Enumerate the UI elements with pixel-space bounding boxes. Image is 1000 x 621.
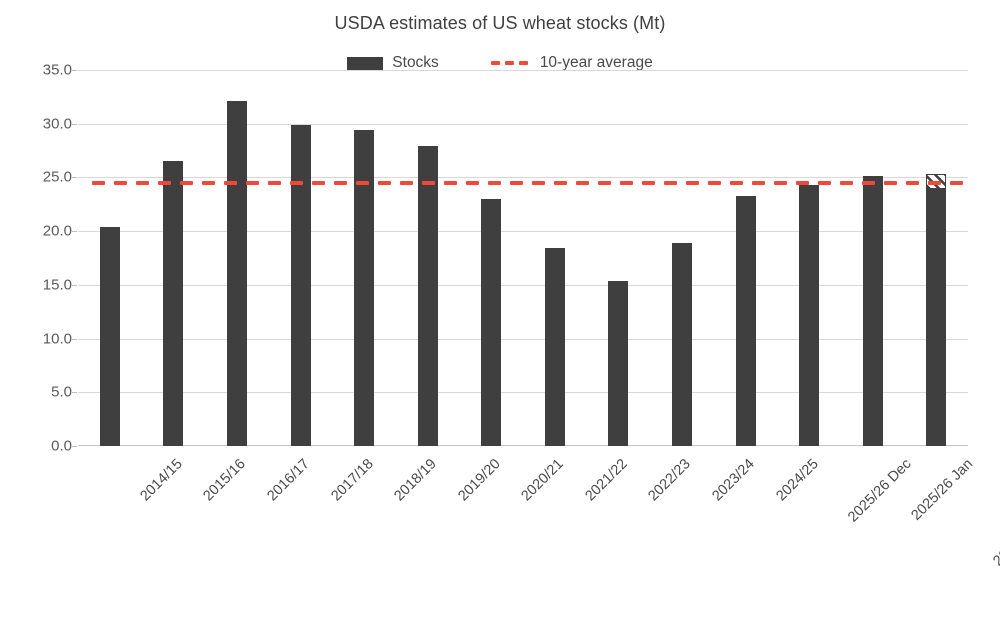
bar[interactable] <box>799 185 819 446</box>
y-axis-tick-label: 20.0 <box>18 223 72 240</box>
average-line-dash <box>532 181 545 185</box>
average-line-dash <box>598 181 611 185</box>
average-line-dash <box>466 181 479 185</box>
average-line-dash <box>664 181 677 185</box>
bar[interactable] <box>608 281 628 446</box>
y-axis-tick <box>72 285 77 286</box>
bar[interactable] <box>163 161 183 446</box>
bar[interactable] <box>354 130 374 446</box>
average-line-dash <box>730 181 743 185</box>
average-line-dash <box>334 181 347 185</box>
average-line-dash <box>774 181 787 185</box>
y-axis-tick <box>72 446 77 447</box>
x-axis-tick-label: 2017/18 <box>328 456 376 504</box>
bar[interactable] <box>736 196 756 446</box>
average-line-dash <box>642 181 655 185</box>
average-line-dash <box>708 181 721 185</box>
y-axis-tick-label: 5.0 <box>18 384 72 401</box>
bar[interactable] <box>863 176 883 446</box>
legend-bar-swatch-icon <box>347 57 383 70</box>
gridline <box>78 392 968 393</box>
average-line-dash <box>510 181 523 185</box>
average-line <box>78 181 968 185</box>
gridline <box>78 70 968 71</box>
y-axis-tick <box>72 177 77 178</box>
average-line-dash <box>400 181 413 185</box>
average-line-dash <box>884 181 897 185</box>
gridline <box>78 285 968 286</box>
x-axis-tick-label: 2014/15 <box>137 456 185 504</box>
x-axis-tick-label: 2018/19 <box>391 456 439 504</box>
x-axis-tick-label: 2022/23 <box>646 456 694 504</box>
gridline <box>78 177 968 178</box>
average-line-dash <box>862 181 875 185</box>
x-axis-tick-label: 2021/22 <box>582 456 630 504</box>
average-line-dash <box>246 181 259 185</box>
bar[interactable] <box>926 189 946 446</box>
average-line-dash <box>796 181 809 185</box>
average-line-dash <box>488 181 501 185</box>
average-line-dash <box>554 181 567 185</box>
y-axis-tick <box>72 392 77 393</box>
average-line-dash <box>686 181 699 185</box>
average-line-dash <box>378 181 391 185</box>
average-line-dash <box>422 181 435 185</box>
average-line-dash <box>928 181 941 185</box>
x-axis-tick-label: 2019/20 <box>455 456 503 504</box>
chart-title: USDA estimates of US wheat stocks (Mt) <box>0 13 1000 34</box>
y-axis-tick-label: 10.0 <box>18 330 72 347</box>
gridline <box>78 124 968 125</box>
average-line-dash <box>906 181 919 185</box>
bar[interactable] <box>227 101 247 446</box>
y-axis-tick <box>72 339 77 340</box>
plot-area <box>78 70 968 446</box>
x-axis-tick-label: 2015/16 <box>201 456 249 504</box>
average-line-dash <box>92 181 105 185</box>
y-axis-labels: 35.030.025.020.015.010.05.00.0 <box>12 70 72 446</box>
average-line-dash <box>752 181 765 185</box>
y-axis-tick-label: 35.0 <box>18 62 72 79</box>
average-line-dash <box>356 181 369 185</box>
average-line-dash <box>290 181 303 185</box>
bar[interactable] <box>418 146 438 446</box>
y-axis-tick-label: 25.0 <box>18 169 72 186</box>
x-axis-tick-label: 2025/26 Dec <box>845 456 914 525</box>
x-axis-tick-label: 2025/26 Jan <box>908 456 976 524</box>
bar[interactable] <box>100 227 120 446</box>
average-line-dash <box>444 181 457 185</box>
y-axis-tick <box>72 124 77 125</box>
x-axis-tick-label: 2020/21 <box>519 456 567 504</box>
x-axis-tick-label: 2016/17 <box>264 456 312 504</box>
average-line-dash <box>180 181 193 185</box>
legend-dashed-line-icon <box>491 61 531 65</box>
average-line-dash <box>312 181 325 185</box>
y-axis-tick <box>72 70 77 71</box>
y-axis-tick-label: 0.0 <box>18 438 72 455</box>
average-line-dash <box>268 181 281 185</box>
average-line-dash <box>576 181 589 185</box>
chart-container: USDA estimates of US wheat stocks (Mt) S… <box>0 0 1000 621</box>
gridline <box>78 231 968 232</box>
average-line-dash <box>620 181 633 185</box>
average-line-dash <box>158 181 171 185</box>
average-line-dash <box>950 181 963 185</box>
x-axis-labels: 2014/152015/162016/172017/182018/192019/… <box>78 446 968 616</box>
y-axis-tick-label: 15.0 <box>18 276 72 293</box>
average-line-dash <box>224 181 237 185</box>
y-axis-tick-label: 30.0 <box>18 115 72 132</box>
average-line-dash <box>114 181 127 185</box>
average-line-dash <box>136 181 149 185</box>
gridline <box>78 339 968 340</box>
x-axis-tick-label: 2025/26 Feb forecasts <box>990 456 1000 569</box>
x-axis-tick-label: 2023/24 <box>709 456 757 504</box>
average-line-dash <box>840 181 853 185</box>
bar[interactable] <box>481 199 501 446</box>
average-line-dash <box>202 181 215 185</box>
bar[interactable] <box>672 243 692 446</box>
bar[interactable] <box>291 125 311 446</box>
y-axis-tick <box>72 231 77 232</box>
average-line-dash <box>818 181 831 185</box>
x-axis-tick-label: 2024/25 <box>773 456 821 504</box>
bar[interactable] <box>545 248 565 446</box>
